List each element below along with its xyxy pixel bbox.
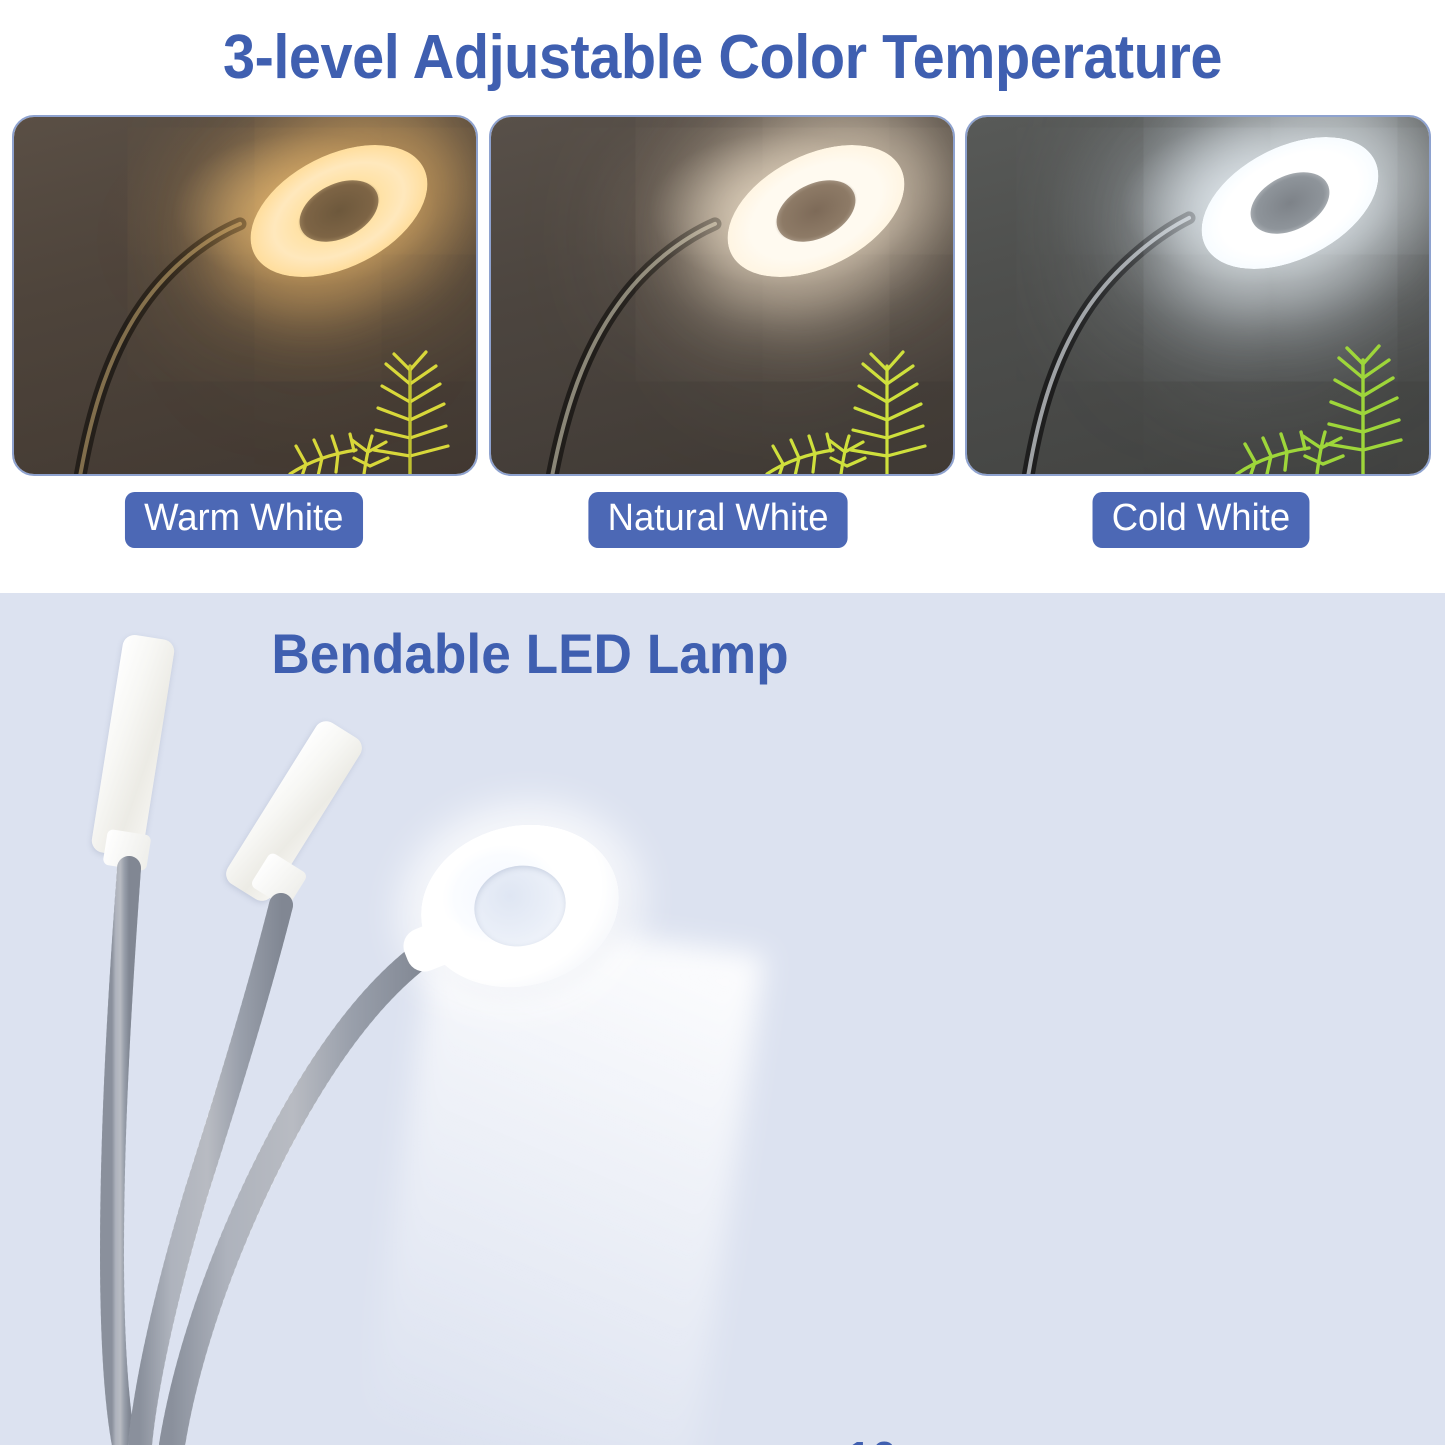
photo-natural-white-content [491, 117, 953, 474]
page-title-color-temperature: 3-level Adjustable Color Temperature [51, 22, 1395, 93]
plant-icon [260, 324, 470, 474]
infographic-page: 3-level Adjustable Color Temperature [0, 0, 1445, 1445]
gooseneck-necks-illustration [0, 593, 760, 1445]
photo-cold-white [965, 115, 1431, 476]
brightness-meter: 10-Level Brightness [742, 1431, 1310, 1445]
badge-natural-white: Natural White [588, 492, 847, 548]
photo-warm-white [12, 115, 478, 476]
brightness-label: 10-Level Brightness [742, 1431, 1310, 1445]
gooseneck-1 [112, 868, 129, 1445]
plant-icon [1213, 324, 1423, 474]
photo-warm-white-content [14, 117, 476, 474]
badge-warm-white: Warm White [125, 492, 363, 548]
badge-cold-white: Cold White [1093, 492, 1310, 548]
gooseneck-3 [172, 913, 472, 1445]
photo-cold-white-content [967, 117, 1429, 474]
brightness-level-number: 10 [846, 1432, 897, 1445]
photo-row [0, 115, 1445, 478]
color-temperature-section: 3-level Adjustable Color Temperature [0, 0, 1445, 593]
plant-icon [737, 324, 947, 474]
photo-natural-white [489, 115, 955, 476]
brightness-label-text: -Level Brightness [897, 1439, 1206, 1445]
